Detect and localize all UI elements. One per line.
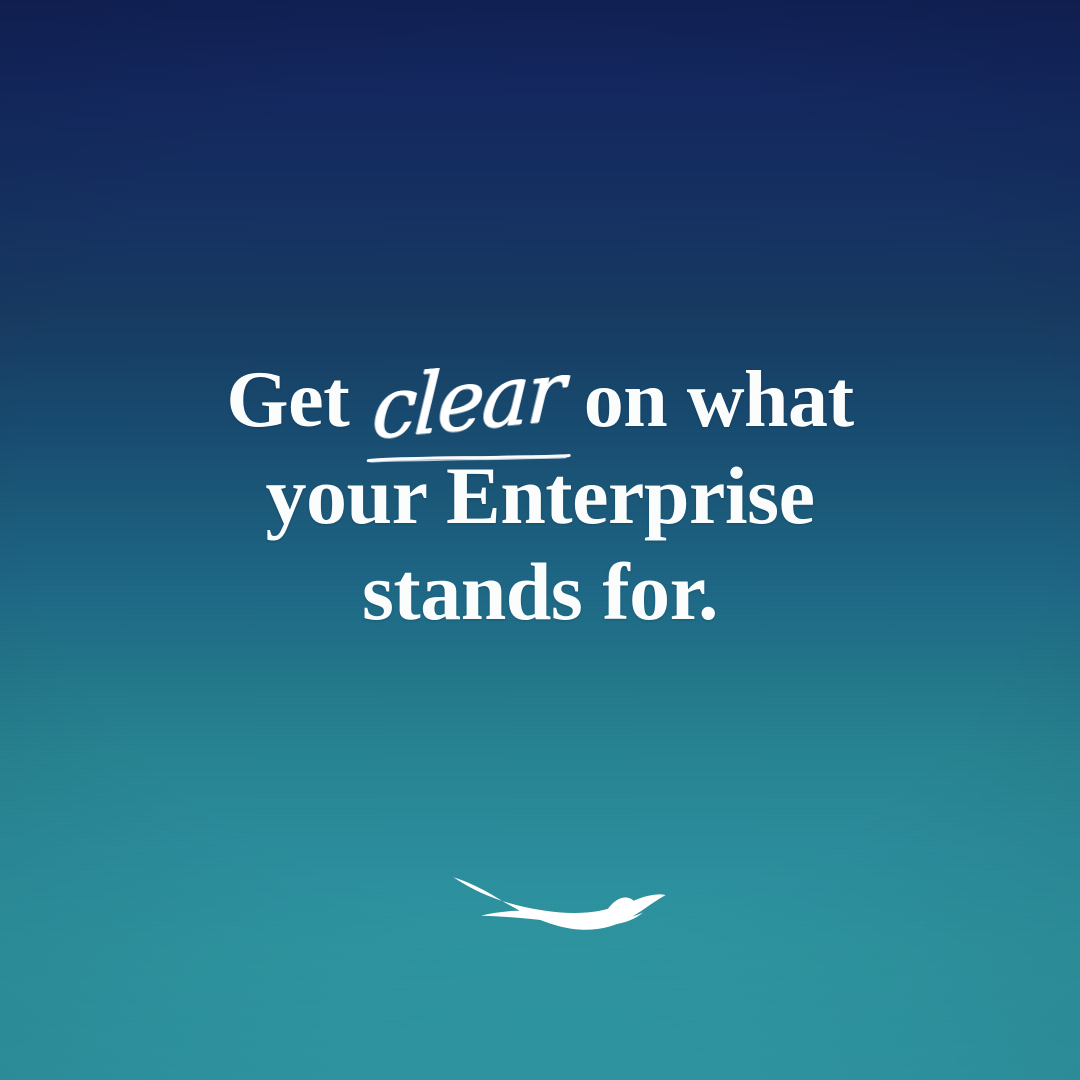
emphasis-word-wrap: clear (369, 352, 565, 448)
emphasis-word-clear: clear (370, 349, 565, 452)
headline-text-before-emphasis: Get (226, 356, 368, 444)
social-graphic-canvas: Get clear on what your Enterprise stands… (0, 0, 1080, 1080)
flying-bird-icon (450, 872, 666, 938)
headline-line-1: Get clear on what (0, 352, 1080, 448)
headline-line-2: your Enterprise (0, 448, 1080, 544)
headline-block: Get clear on what your Enterprise stands… (0, 352, 1080, 640)
headline-line-3: stands for. (0, 544, 1080, 640)
headline-text-after-emphasis: on what (564, 356, 853, 444)
